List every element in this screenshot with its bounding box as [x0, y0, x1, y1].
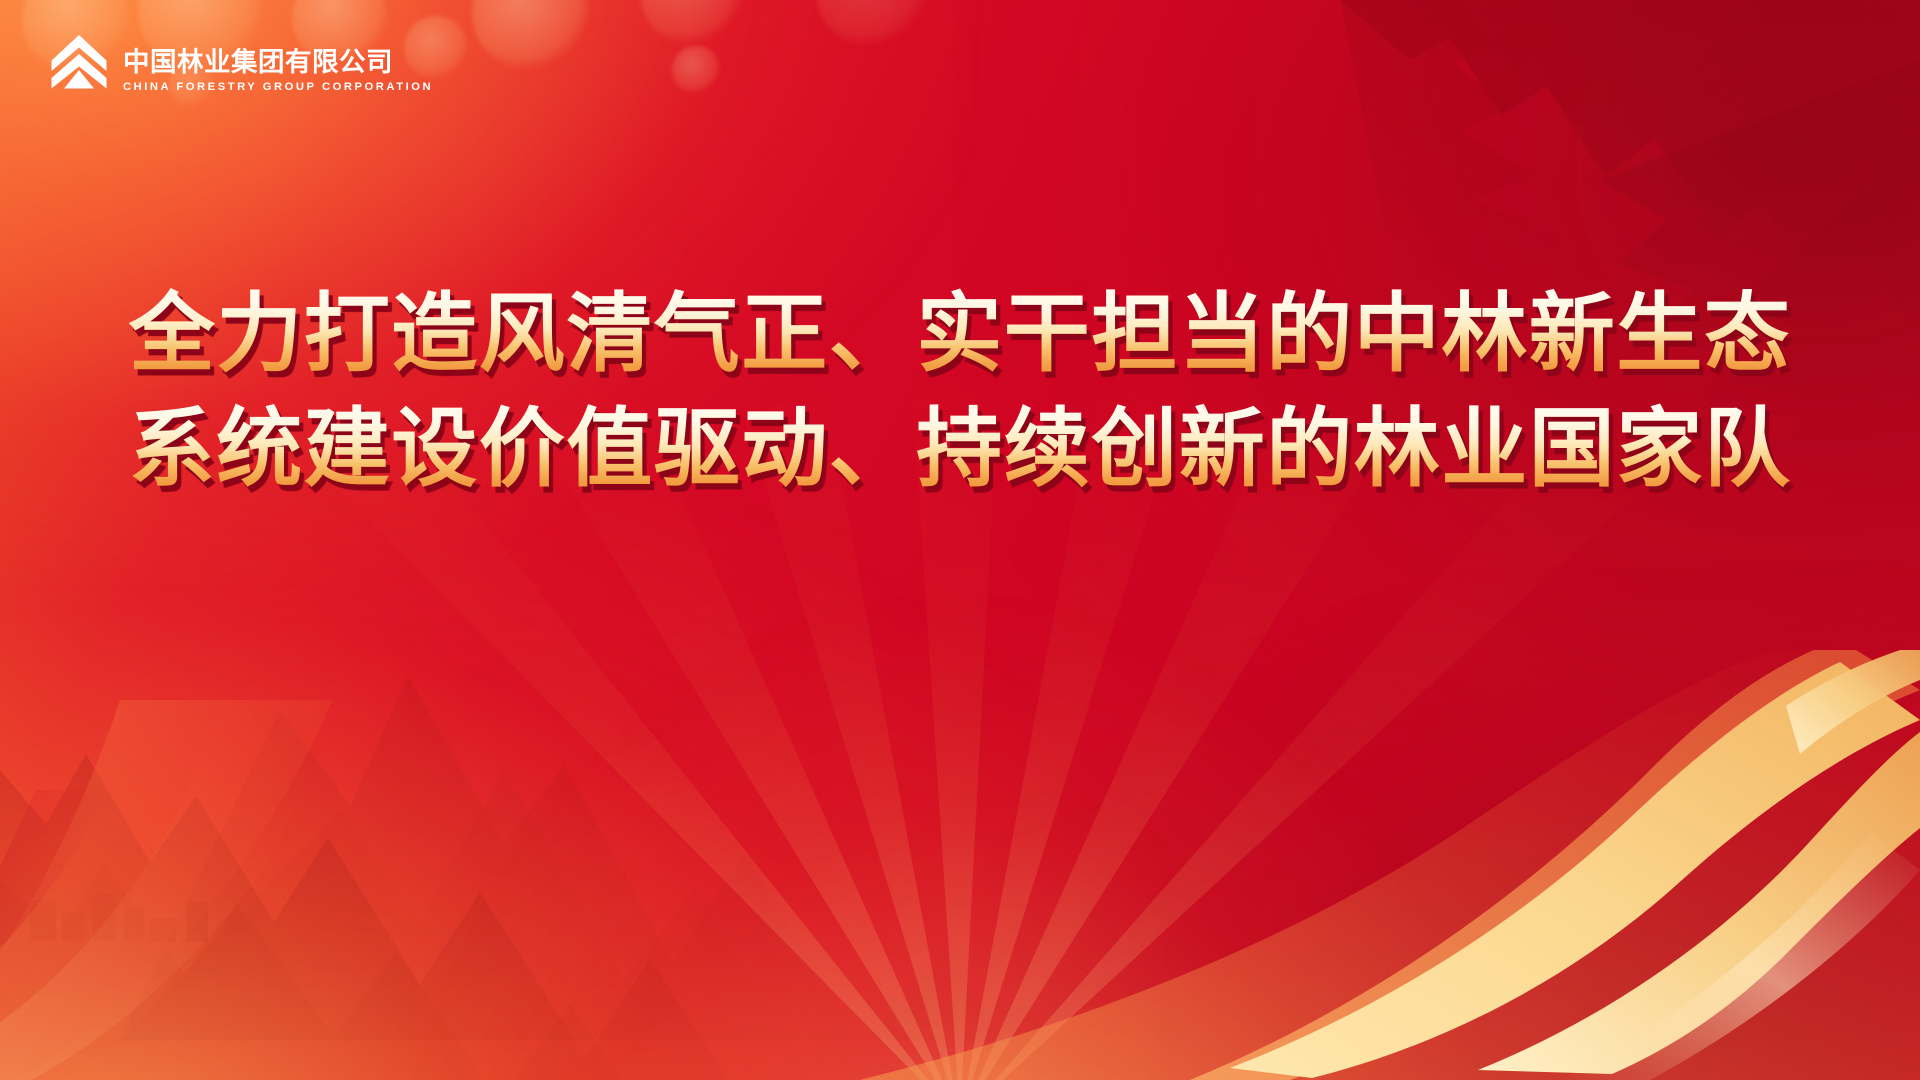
mountain-texture-left — [0, 650, 760, 1080]
promotional-banner: 中国林业集团有限公司 CHINA FORESTRY GROUP CORPORAT… — [0, 0, 1920, 1080]
china-forestry-group-mark-icon — [48, 33, 110, 95]
brand-logo-text: 中国林业集团有限公司 CHINA FORESTRY GROUP CORPORAT… — [123, 48, 433, 95]
headline-line-1-text: 全力打造风清气正、实干担当的中林新生态 — [129, 284, 1792, 384]
brand-name-cn: 中国林业集团有限公司 — [123, 48, 433, 76]
headline-block: 全力打造风清气正、实干担当的中林新生态 全力打造风清气正、实干担当的中林新生态 … — [0, 289, 1920, 495]
brand-logo[interactable]: 中国林业集团有限公司 CHINA FORESTRY GROUP CORPORAT… — [48, 33, 433, 95]
brand-name-en: CHINA FORESTRY GROUP CORPORATION — [123, 80, 433, 94]
headline-line-2: 系统建设价值驱动、持续创新的林业国家队 系统建设价值驱动、持续创新的林业国家队 — [129, 404, 1792, 495]
headline-line-2-text: 系统建设价值驱动、持续创新的林业国家队 — [129, 399, 1792, 499]
headline-line-1: 全力打造风清气正、实干担当的中林新生态 全力打造风清气正、实干担当的中林新生态 — [129, 289, 1792, 380]
